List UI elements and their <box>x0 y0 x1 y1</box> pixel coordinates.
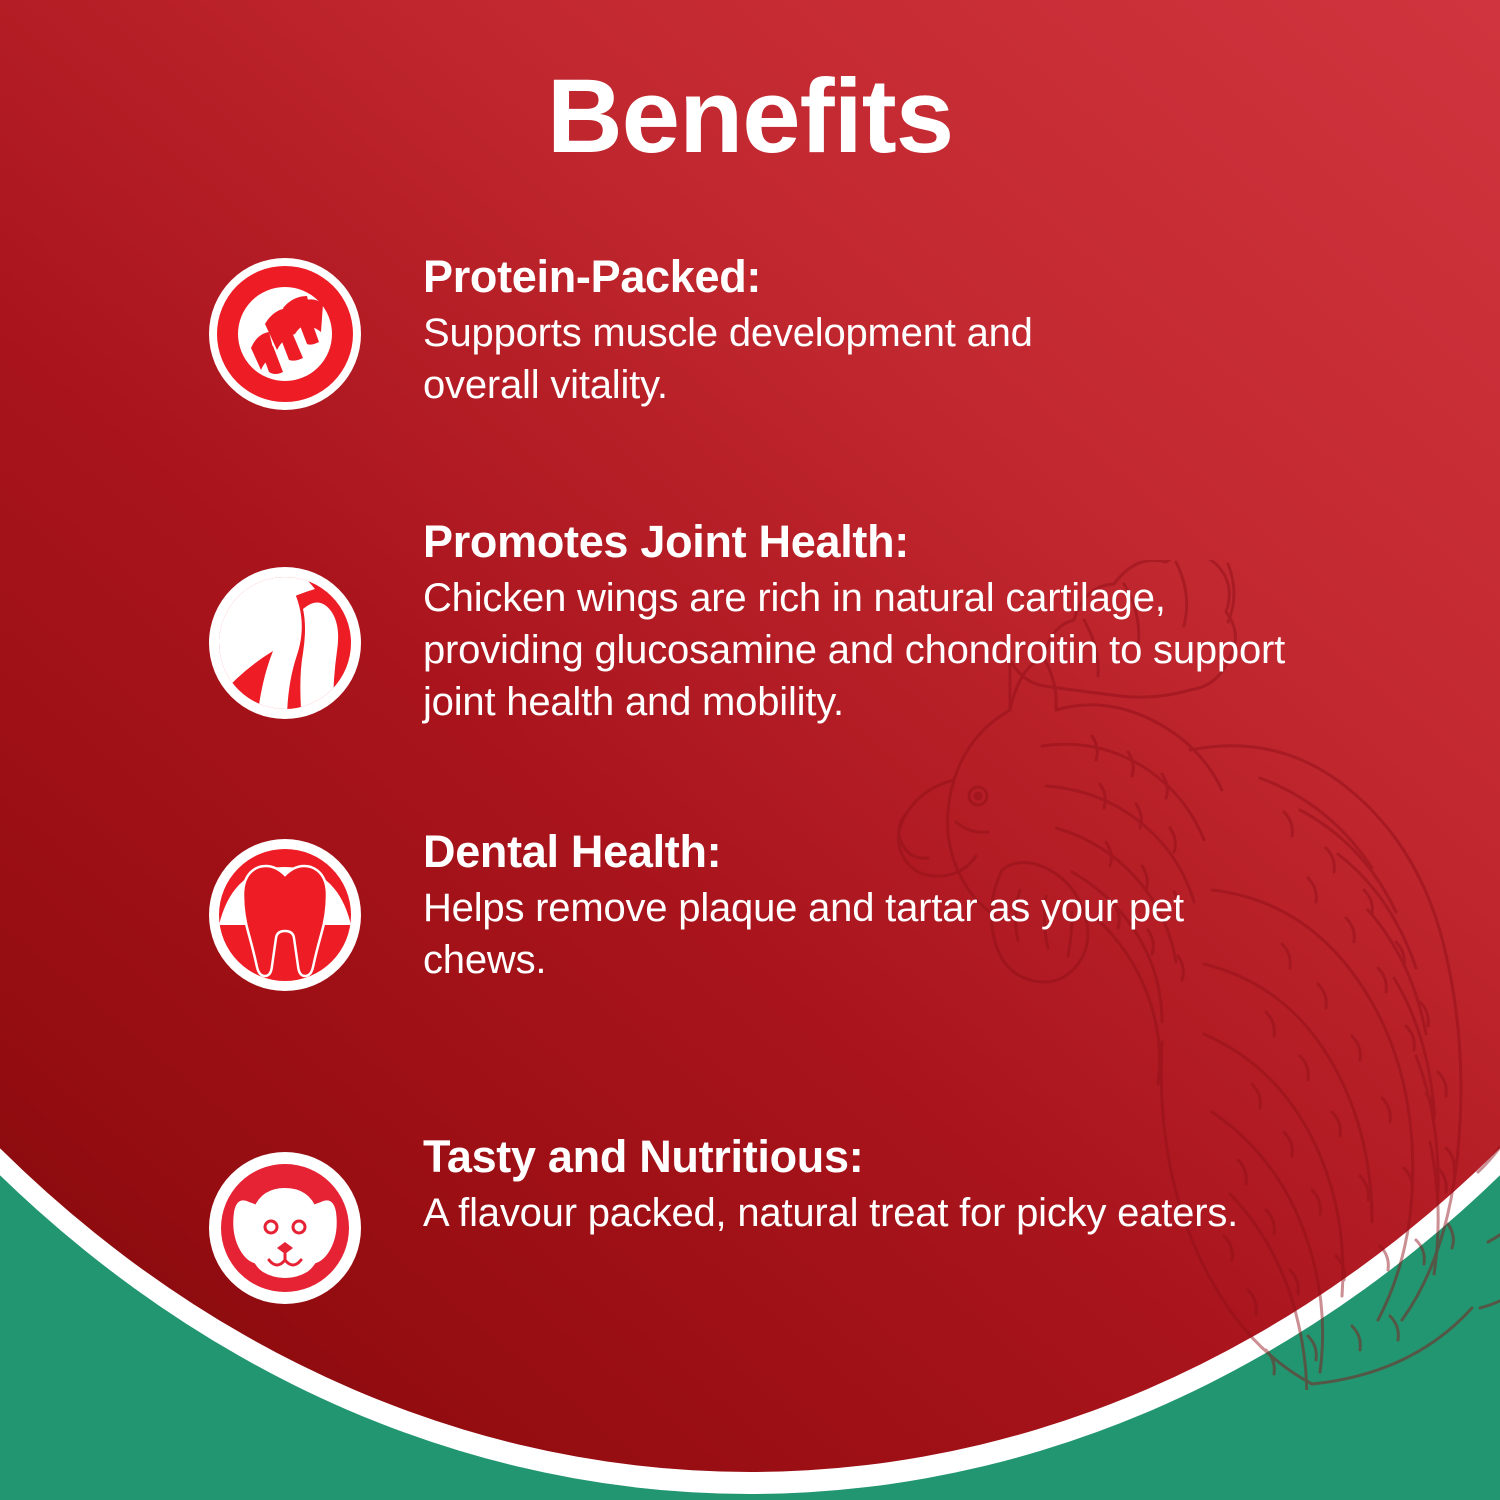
benefit-text-joint: Promotes Joint Health: Chicken wings are… <box>423 515 1303 728</box>
benefit-title: Promotes Joint Health: <box>423 515 1303 568</box>
benefit-item-dental: Dental Health: Helps remove plaque and t… <box>205 825 1243 995</box>
benefit-description: A flavour packed, natural treat for pick… <box>423 1187 1363 1239</box>
benefits-poster: Benefits <box>0 0 1500 1500</box>
benefit-description: Supports muscle development and overall … <box>423 307 1143 411</box>
benefit-text-tasty: Tasty and Nutritious: A flavour packed, … <box>423 1130 1363 1239</box>
benefit-description: Helps remove plaque and tartar as your p… <box>423 882 1243 986</box>
benefit-item-protein: Protein-Packed: Supports muscle developm… <box>205 250 1143 414</box>
benefit-text-protein: Protein-Packed: Supports muscle developm… <box>423 250 1143 411</box>
benefit-item-joint: Promotes Joint Health: Chicken wings are… <box>205 515 1303 728</box>
tooth-icon <box>205 835 365 995</box>
dog-face-icon <box>205 1148 365 1308</box>
benefit-title: Tasty and Nutritious: <box>423 1130 1363 1183</box>
poster-content: Benefits <box>0 0 1500 1500</box>
page-title: Benefits <box>0 58 1500 176</box>
benefit-description: Chicken wings are rich in natural cartil… <box>423 572 1303 728</box>
benefit-title: Dental Health: <box>423 825 1243 878</box>
benefit-title: Protein-Packed: <box>423 250 1143 303</box>
benefit-item-tasty: Tasty and Nutritious: A flavour packed, … <box>205 1130 1363 1308</box>
bone-joint-icon <box>205 563 365 723</box>
benefit-text-dental: Dental Health: Helps remove plaque and t… <box>423 825 1243 986</box>
protein-helix-icon <box>205 254 365 414</box>
